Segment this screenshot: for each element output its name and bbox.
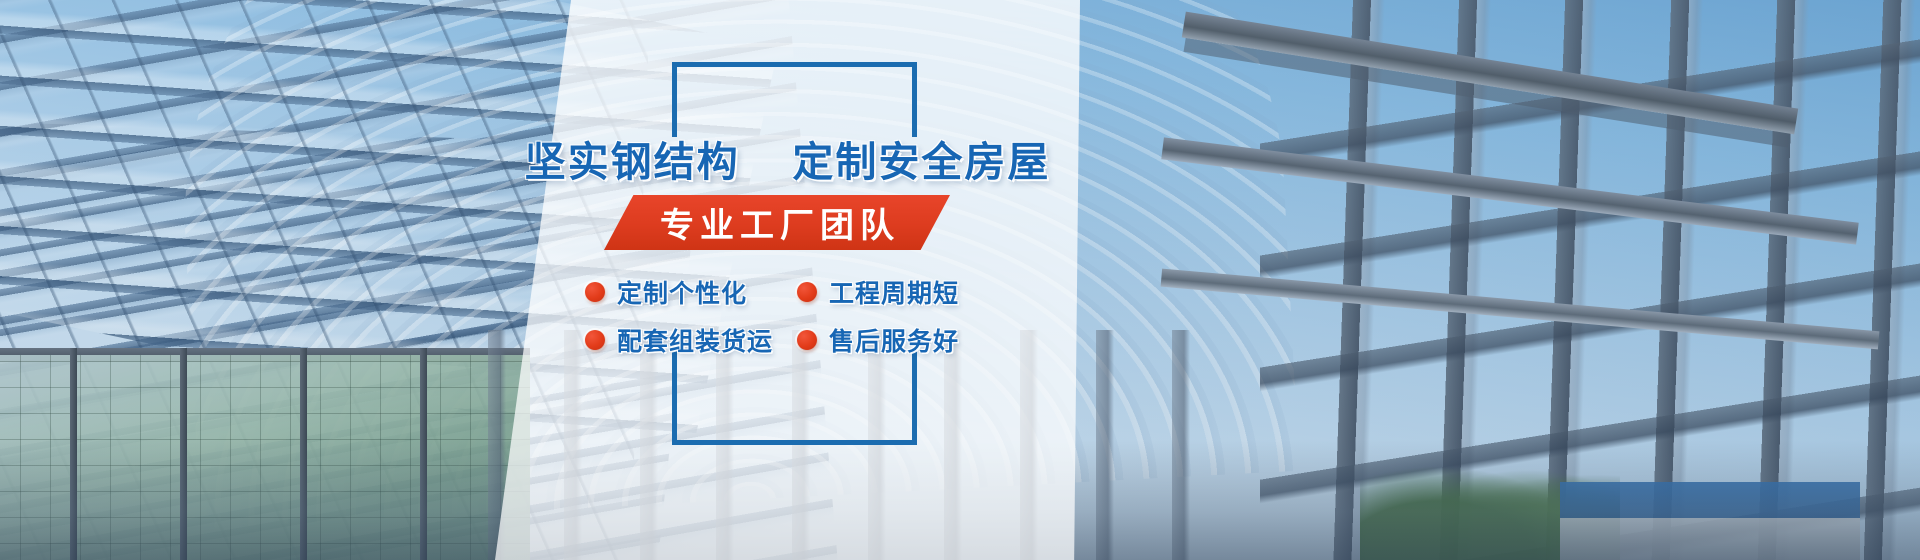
corner-bracket-top-icon (672, 62, 917, 137)
red-dot-icon (797, 282, 817, 302)
feature-row: 配套组装货运 售后服务好 (585, 316, 1025, 364)
feature-item: 定制个性化 (585, 274, 797, 310)
red-dot-icon (797, 330, 817, 350)
feature-item: 售后服务好 (797, 322, 1009, 358)
feature-label: 配套组装货运 (617, 322, 773, 358)
corner-bracket-bottom-icon (672, 350, 917, 445)
headline-part-1: 坚实钢结构 (525, 139, 740, 185)
feature-item: 工程周期短 (797, 274, 1009, 310)
feature-label: 售后服务好 (829, 322, 959, 358)
feature-item: 配套组装货运 (585, 322, 797, 358)
red-dot-icon (585, 330, 605, 350)
feature-row: 定制个性化 工程周期短 (585, 268, 1025, 316)
headline-part-2: 定制安全房屋 (792, 139, 1050, 185)
headline: 坚实钢结构 定制安全房屋 (495, 128, 1080, 188)
feature-list: 定制个性化 工程周期短 配套组装货运 售后服务好 (585, 268, 1025, 364)
hero-banner: 坚实钢结构 定制安全房屋 专业工厂团队 定制个性化 工程周期短 配套组装货运 售 (0, 0, 1920, 560)
feature-label: 工程周期短 (829, 274, 959, 310)
feature-label: 定制个性化 (617, 274, 747, 310)
red-dot-icon (585, 282, 605, 302)
ribbon-label: 专业工厂团队 (604, 195, 950, 250)
